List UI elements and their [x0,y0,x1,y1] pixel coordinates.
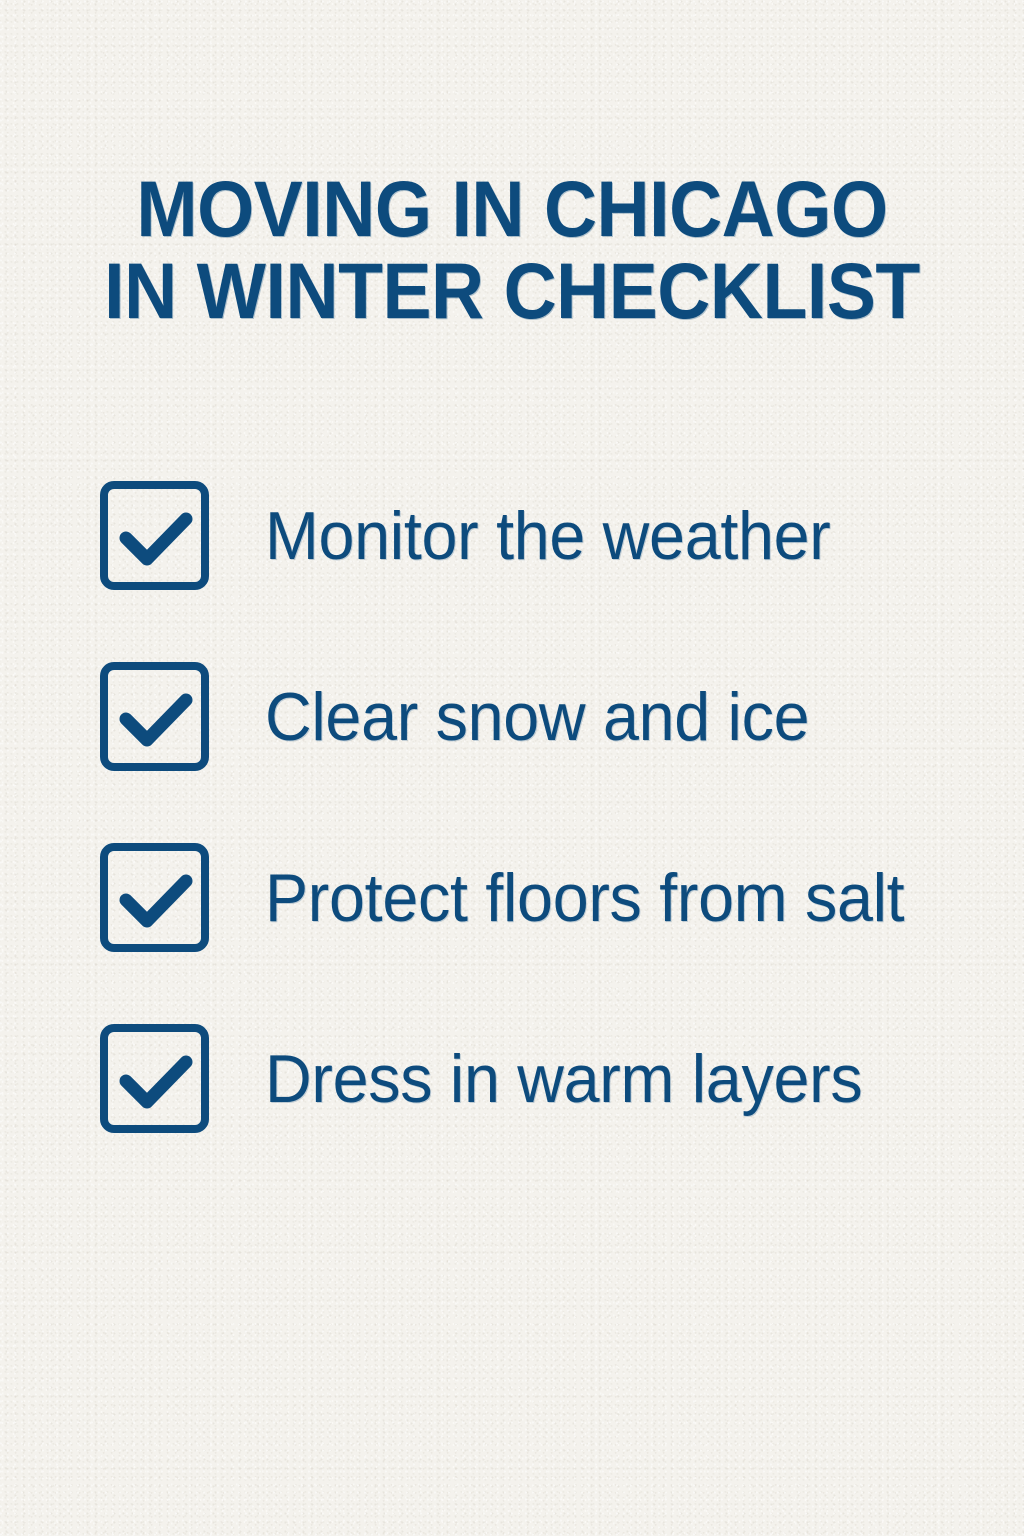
page-title-line-1: MOVING IN CHICAGO [36,168,988,250]
checklist-item-3[interactable]: Protect floors from salt [100,843,980,952]
checklist-item-label: Dress in warm layers [265,1043,862,1115]
checklist-item-2[interactable]: Clear snow and ice [100,662,980,771]
checkbox-checked-icon[interactable] [100,1024,209,1133]
checklist-item-label: Monitor the weather [265,500,831,572]
poster-canvas: MOVING IN CHICAGO IN WINTER CHECKLIST Mo… [0,0,1024,1536]
checklist-item-4[interactable]: Dress in warm layers [100,1024,980,1133]
checkbox-checked-icon[interactable] [100,481,209,590]
checklist-item-label: Protect floors from salt [265,862,904,934]
page-title-line-2: IN WINTER CHECKLIST [36,250,988,332]
checklist: Monitor the weather Clear snow and ice P… [100,481,980,1133]
checkbox-checked-icon[interactable] [100,843,209,952]
page-title: MOVING IN CHICAGO IN WINTER CHECKLIST [0,168,1024,332]
poster-content: MOVING IN CHICAGO IN WINTER CHECKLIST Mo… [0,0,1024,1536]
checklist-item-1[interactable]: Monitor the weather [100,481,980,590]
checkbox-checked-icon[interactable] [100,662,209,771]
checklist-item-label: Clear snow and ice [265,681,809,753]
